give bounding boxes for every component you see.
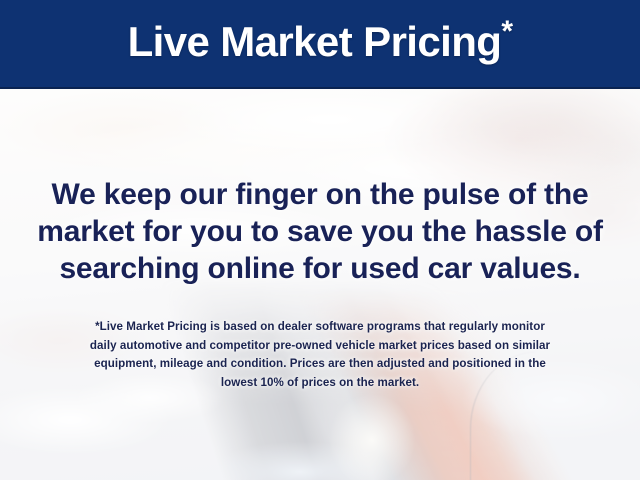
banner-title-text: Live Market Pricing <box>128 18 502 65</box>
headline-line-1: We keep our finger on the pulse of the <box>0 176 640 213</box>
banner-title-asterisk: * <box>501 15 512 48</box>
disclaimer-line-1: *Live Market Pricing is based on dealer … <box>0 318 640 337</box>
live-market-pricing-graphic: Live Market Pricing* We keep our finger … <box>0 0 640 480</box>
banner-title: Live Market Pricing* <box>118 21 523 67</box>
headline-line-3: searching online for used car values. <box>0 250 640 287</box>
disclaimer-line-3: equipment, mileage and condition. Prices… <box>0 355 640 374</box>
disclaimer: *Live Market Pricing is based on dealer … <box>0 318 640 392</box>
disclaimer-line-4: lowest 10% of prices on the market. <box>0 374 640 393</box>
disclaimer-line-2: daily automotive and competitor pre-owne… <box>0 337 640 356</box>
headline-line-2: market for you to save you the hassle of <box>0 213 640 250</box>
headline: We keep our finger on the pulse of the m… <box>0 176 640 287</box>
header-banner: Live Market Pricing* <box>0 0 640 89</box>
